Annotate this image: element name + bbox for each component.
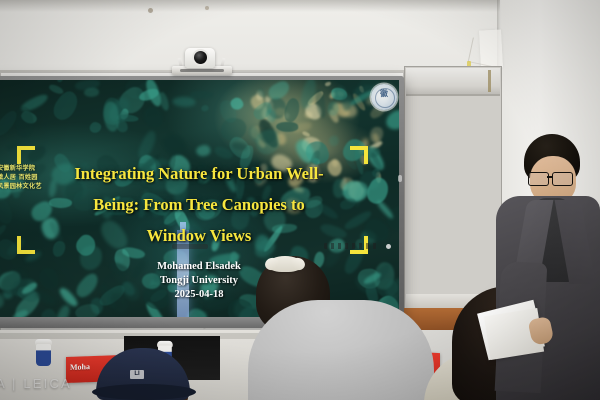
display-side-indicator xyxy=(398,175,402,182)
camera-lens-icon xyxy=(194,51,207,64)
display-brand-logo xyxy=(172,244,208,249)
canopy-ochre-blob xyxy=(325,81,332,86)
canopy-foliage-blob xyxy=(190,90,214,99)
audience-member-grey-top xyxy=(248,300,434,400)
canopy-foliage-blob xyxy=(56,80,64,84)
cup-body xyxy=(36,344,51,366)
canopy-foliage-blob xyxy=(140,105,166,132)
canopy-foliage-blob xyxy=(0,223,9,239)
canopy-foliage-blob xyxy=(0,196,15,227)
canopy-foliage-blob xyxy=(40,306,59,317)
window-roller-blind[interactable] xyxy=(406,68,500,96)
display-port-strip xyxy=(324,243,378,249)
blind-pull-cord[interactable] xyxy=(488,70,491,92)
placard-left-text: Moha xyxy=(70,362,90,372)
presentation-slide: 安徽新华学院 徽人居 百姓园 风景园林文化艺 徽 xyxy=(0,80,399,317)
slide-title: Integrating Nature for Urban Well- Being… xyxy=(21,158,377,251)
slide-title-line-1: Integrating Nature for Urban Well- xyxy=(21,158,377,189)
canopy-foliage-blob xyxy=(172,97,196,107)
eyeglasses-icon xyxy=(528,172,578,184)
canopy-foliage-blob xyxy=(88,120,102,134)
canopy-foliage-blob xyxy=(327,135,340,149)
slide-title-line-2: Being: From Tree Canopies to xyxy=(21,189,377,220)
glasses-lens-right xyxy=(552,172,573,186)
canopy-foliage-blob xyxy=(200,104,209,113)
canopy-foliage-blob xyxy=(49,88,83,124)
display-power-led xyxy=(386,244,391,249)
screenshot-root: 安徽新华学院 徽人居 百姓园 风景园林文化艺 徽 xyxy=(0,0,600,400)
cap-badge-text: LI xyxy=(130,370,144,379)
canopy-foliage-blob xyxy=(160,129,190,159)
seal-glyph: 徽 xyxy=(371,88,397,99)
university-seal-icon: 徽 xyxy=(371,84,397,110)
camera-microphone-slot xyxy=(180,69,224,72)
canopy-foliage-blob xyxy=(196,144,212,159)
glasses-lens-left xyxy=(528,172,549,186)
display-screen[interactable]: 安徽新华学院 徽人居 百姓园 风景园林文化艺 徽 xyxy=(0,80,399,317)
interactive-display[interactable]: 安徽新华学院 徽人居 百姓园 风景园林文化艺 徽 xyxy=(0,76,404,328)
photo-watermark: A | LEICA xyxy=(0,376,72,391)
hair-bow xyxy=(268,256,302,272)
wall-pin-icon xyxy=(148,8,153,13)
wall-scribble xyxy=(468,37,500,67)
canopy-foliage-blob xyxy=(13,192,20,198)
cap-brim xyxy=(92,384,196,400)
wall-pin-icon xyxy=(205,6,209,10)
canopy-foliage-blob xyxy=(15,106,33,137)
